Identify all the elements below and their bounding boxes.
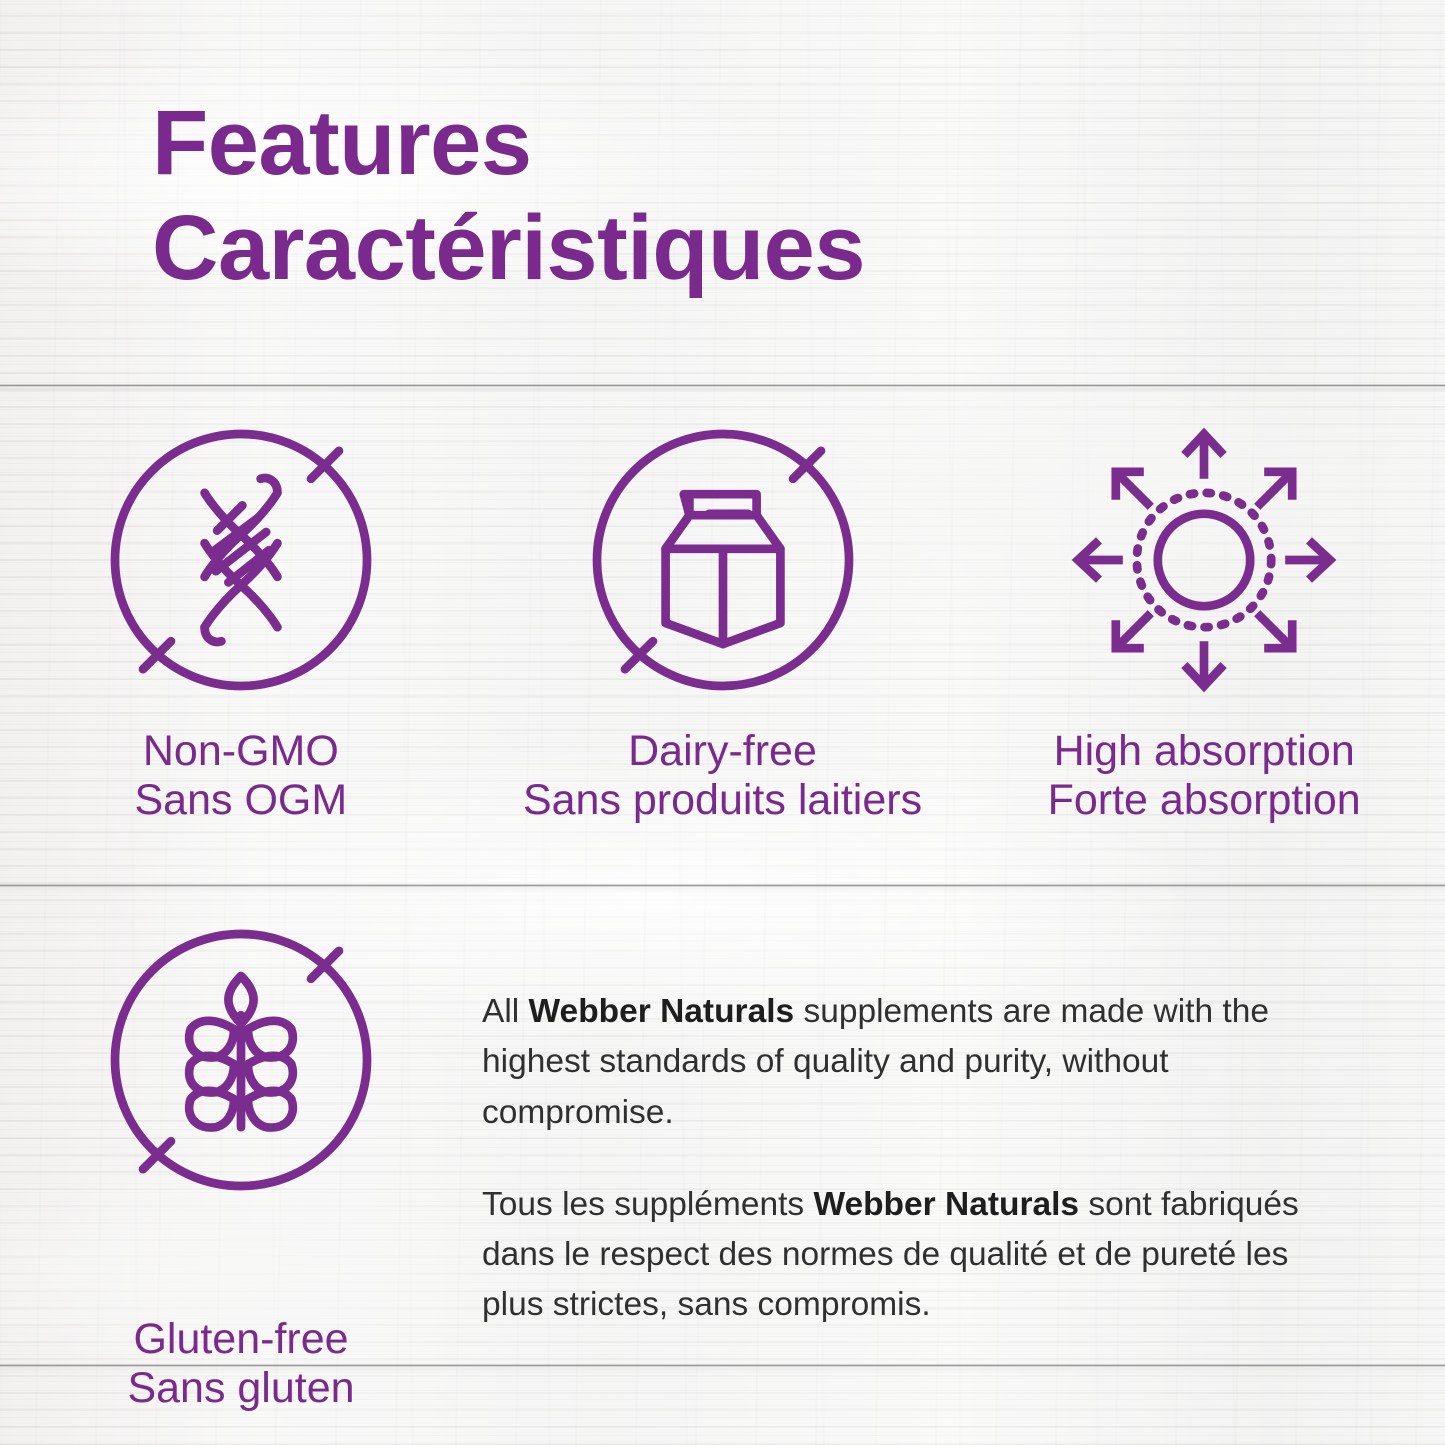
brand-name-fr: Webber Naturals — [813, 1186, 1079, 1223]
feature-label-group: High absorption Forte absorption — [1048, 727, 1361, 824]
no-dairy-carton-icon — [578, 415, 868, 705]
feature-label-en: Gluten-free — [127, 1315, 354, 1364]
features-row: Non-GMO Sans OGM — [0, 415, 1445, 824]
feature-label-en: Non-GMO — [135, 727, 348, 776]
feature-label-group: Dairy-free Sans produits laitiers — [523, 727, 922, 824]
page-title: Features Caractéristiques — [152, 96, 1252, 296]
page-title-en: Features — [152, 96, 1252, 191]
feature-label-en: Dairy-free — [523, 727, 922, 776]
feature-label-fr: Sans OGM — [135, 776, 348, 825]
paragraph-en: All Webber Naturals supplements are made… — [482, 987, 1315, 1138]
plank-seam-line — [0, 384, 1445, 387]
feature-label-en: High absorption — [1048, 727, 1361, 776]
no-gluten-wheat-icon — [96, 915, 386, 1205]
bottom-row: Gluten-free Sans gluten All Webber Natur… — [0, 915, 1445, 1412]
brand-name-en: Webber Naturals — [529, 993, 795, 1030]
feature-gluten-free: Gluten-free Sans gluten — [0, 915, 482, 1412]
feature-label-fr: Sans produits laitiers — [523, 776, 922, 825]
page-title-fr: Caractéristiques — [152, 201, 1252, 296]
paragraph-en-before: All — [482, 993, 529, 1030]
high-absorption-arrows-icon — [1059, 415, 1349, 705]
feature-label-group: Non-GMO Sans OGM — [135, 727, 348, 824]
plank-seam-line — [0, 884, 1445, 887]
feature-label-group: Gluten-free Sans gluten — [127, 1315, 354, 1412]
feature-dairy-free: Dairy-free Sans produits laitiers — [482, 415, 964, 824]
feature-label-fr: Sans gluten — [127, 1364, 354, 1413]
feature-label-fr: Forte absorption — [1048, 776, 1361, 825]
body-copy: All Webber Naturals supplements are made… — [482, 915, 1445, 1331]
no-gmo-dna-icon — [96, 415, 386, 705]
paragraph-fr: Tous les suppléments Webber Naturals son… — [482, 1180, 1315, 1331]
features-panel: Features Caractéristiques — [0, 0, 1445, 1445]
paragraph-fr-before: Tous les suppléments — [482, 1186, 813, 1223]
feature-high-absorption: High absorption Forte absorption — [963, 415, 1445, 824]
feature-non-gmo: Non-GMO Sans OGM — [0, 415, 482, 824]
